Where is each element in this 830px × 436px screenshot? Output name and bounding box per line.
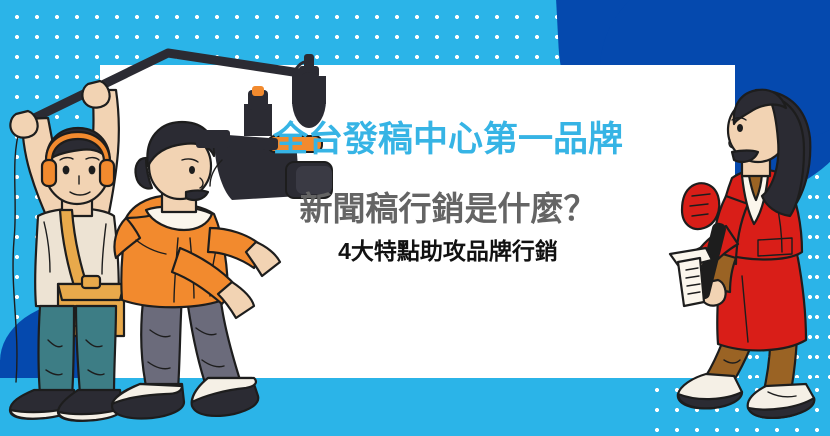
page-subtitle-tagline: 4大特點助攻品牌行銷 xyxy=(248,237,648,267)
page-title-sub: 新聞稿行銷是什麼？ xyxy=(248,188,648,229)
page-title-main: 全台發稿中心第一品牌 xyxy=(248,118,648,162)
bottom-polka-dot-pattern xyxy=(640,378,830,436)
right-polka-dot-pattern xyxy=(735,180,830,380)
news-release-banner: .ln { fill:none; stroke:#1d1d1d; stroke-… xyxy=(0,0,830,436)
headline-text-block: 全台發稿中心第一品牌 新聞稿行銷是什麼？ 4大特點助攻品牌行銷 xyxy=(248,118,648,267)
